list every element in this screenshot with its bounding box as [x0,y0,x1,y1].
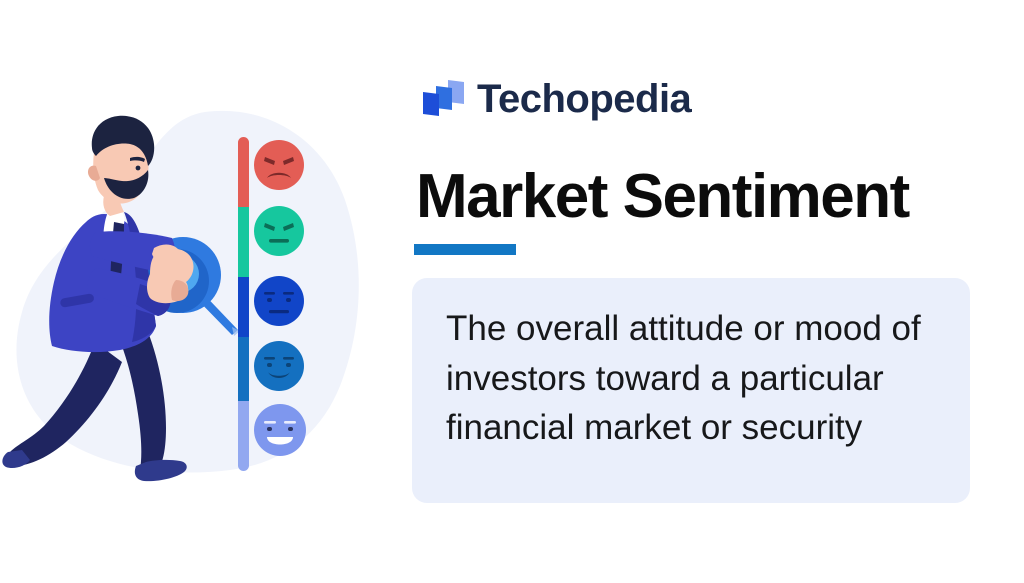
page-title: Market Sentiment [416,166,1016,228]
title-accent-bar [414,244,516,255]
sentiment-meter-bar[interactable] [238,137,249,471]
grinning-face-icon [254,404,306,456]
infographic-canvas: Techopedia Market Sentiment The overall … [0,0,1024,583]
angry-face-icon [254,140,304,190]
meter-segment-neutral [238,277,249,337]
businessman-turning-sentiment-dial-illustration [0,0,400,583]
meter-segment-very-negative [238,137,249,207]
eye [136,166,141,171]
meter-segment-very-positive [238,401,249,471]
brand-logo[interactable]: Techopedia [420,76,691,122]
meter-segment-negative [238,207,249,277]
definition-text: The overall attitude or mood of investor… [446,304,940,453]
illustration-panel [0,0,400,583]
annoyed-face-icon [254,206,304,256]
content-panel: Techopedia Market Sentiment The overall … [412,0,1024,583]
neutral-face-icon [254,276,304,326]
meter-segment-positive [238,337,249,400]
slightly-smiling-face-icon [254,341,304,391]
brand-name: Techopedia [477,79,691,119]
techopedia-parallelogram-logo-icon [420,78,466,120]
sentiment-face-scale [254,134,316,474]
definition-card: The overall attitude or mood of investor… [412,278,970,503]
